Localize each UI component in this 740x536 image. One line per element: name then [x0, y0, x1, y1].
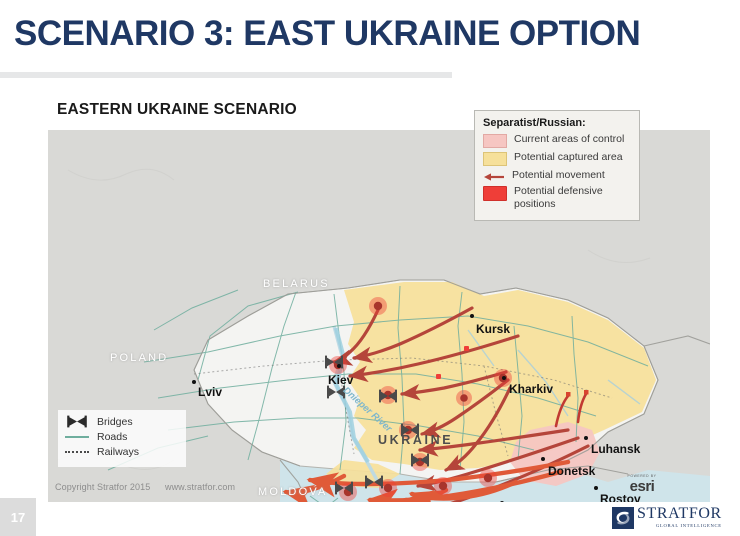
- legend-label: Potential movement: [512, 169, 605, 182]
- city-dot-icon: [502, 376, 506, 380]
- copyright-text: Copyright Stratfor 2015 www.stratfor.com: [55, 482, 235, 492]
- stratfor-logo: STRATFOR GLOBAL INTELLIGENCE: [612, 506, 722, 529]
- esri-logo: POWERED BY esri: [612, 474, 672, 494]
- page-title: SCENARIO 3: EAST UKRAINE OPTION: [14, 8, 726, 60]
- city-dot-icon: [584, 436, 588, 440]
- railway-line-icon: [65, 451, 91, 453]
- city-dot-icon: [594, 486, 598, 490]
- website-link[interactable]: www.stratfor.com: [165, 482, 235, 492]
- city-dot-icon: [541, 457, 545, 461]
- stratfor-tagline: GLOBAL INTELLIGENCE: [637, 522, 722, 529]
- legend-item-potential-movement: Potential movement: [483, 169, 631, 182]
- legend-item-potential-captured: Potential captured area: [483, 151, 631, 166]
- esri-wordmark: esri: [612, 479, 672, 494]
- stratfor-mark-icon: [612, 507, 634, 529]
- bridge-icon: [65, 415, 91, 428]
- yellow-swatch-icon: [483, 152, 507, 166]
- legend-label: Potential defensive positions: [514, 185, 631, 210]
- title-divider: [0, 72, 452, 78]
- pink-swatch-icon: [483, 134, 507, 148]
- map-key: Bridges Roads Railways: [58, 410, 186, 467]
- legend-title: Separatist/Russian:: [483, 117, 631, 129]
- legend-item-defensive-positions: Potential defensive positions: [483, 185, 631, 210]
- copyright-label: Copyright Stratfor 2015: [55, 482, 150, 492]
- map-key-item-bridges: Bridges: [65, 415, 179, 428]
- slide-canvas: SCENARIO 3: EAST UKRAINE OPTION EASTERN …: [0, 0, 740, 536]
- map-key-item-roads: Roads: [65, 431, 179, 443]
- city-dot-icon: [500, 501, 504, 502]
- legend-item-current-control: Current areas of control: [483, 133, 631, 148]
- city-dot-icon: [192, 380, 196, 384]
- map-legend: Separatist/Russian: Current areas of con…: [474, 110, 640, 221]
- map-caption: EASTERN UKRAINE SCENARIO: [57, 101, 297, 119]
- road-line-icon: [65, 436, 91, 438]
- map-key-label: Bridges: [97, 416, 133, 428]
- arrow-left-icon: [483, 170, 505, 182]
- map-key-label: Roads: [97, 431, 127, 443]
- city-dot-icon: [337, 364, 341, 368]
- stratfor-wordmark: STRATFOR: [637, 506, 722, 522]
- slide-number: 17: [0, 498, 36, 536]
- red-swatch-icon: [483, 186, 507, 201]
- map-key-label: Railways: [97, 446, 139, 458]
- legend-label: Current areas of control: [514, 133, 624, 146]
- city-dot-icon: [470, 314, 474, 318]
- legend-label: Potential captured area: [514, 151, 623, 164]
- map-key-item-railways: Railways: [65, 446, 179, 458]
